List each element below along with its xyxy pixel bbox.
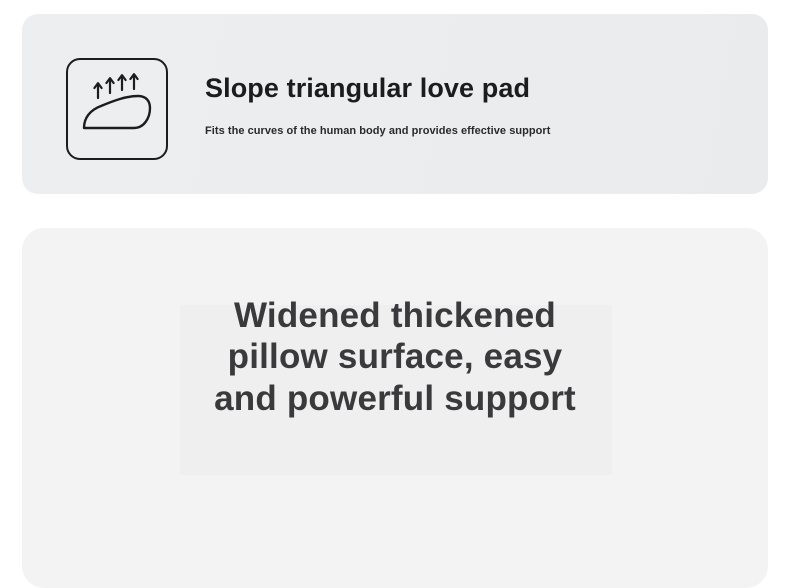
feature-title: Slope triangular love pad (205, 74, 550, 104)
headline-text: Widened thickened pillow surface, easy a… (214, 287, 576, 419)
headline-wrapper: Widened thickened pillow surface, easy a… (22, 228, 768, 478)
headline-line-1: Widened thickened (214, 295, 576, 336)
slope-pillow-icon (66, 58, 168, 160)
feature-card-content: Slope triangular love pad Fits the curve… (66, 58, 550, 160)
feature-text-block: Slope triangular love pad Fits the curve… (205, 58, 550, 137)
headline-line-3: and powerful support (214, 378, 576, 419)
feature-card: Slope triangular love pad Fits the curve… (22, 14, 768, 194)
slope-pillow-icon-glyph (68, 60, 162, 154)
headline-panel: Widened thickened pillow surface, easy a… (22, 228, 768, 588)
feature-subtitle: Fits the curves of the human body and pr… (205, 125, 550, 137)
headline-line-2: pillow surface, easy (214, 336, 576, 377)
product-detail-page: Slope triangular love pad Fits the curve… (0, 0, 790, 579)
